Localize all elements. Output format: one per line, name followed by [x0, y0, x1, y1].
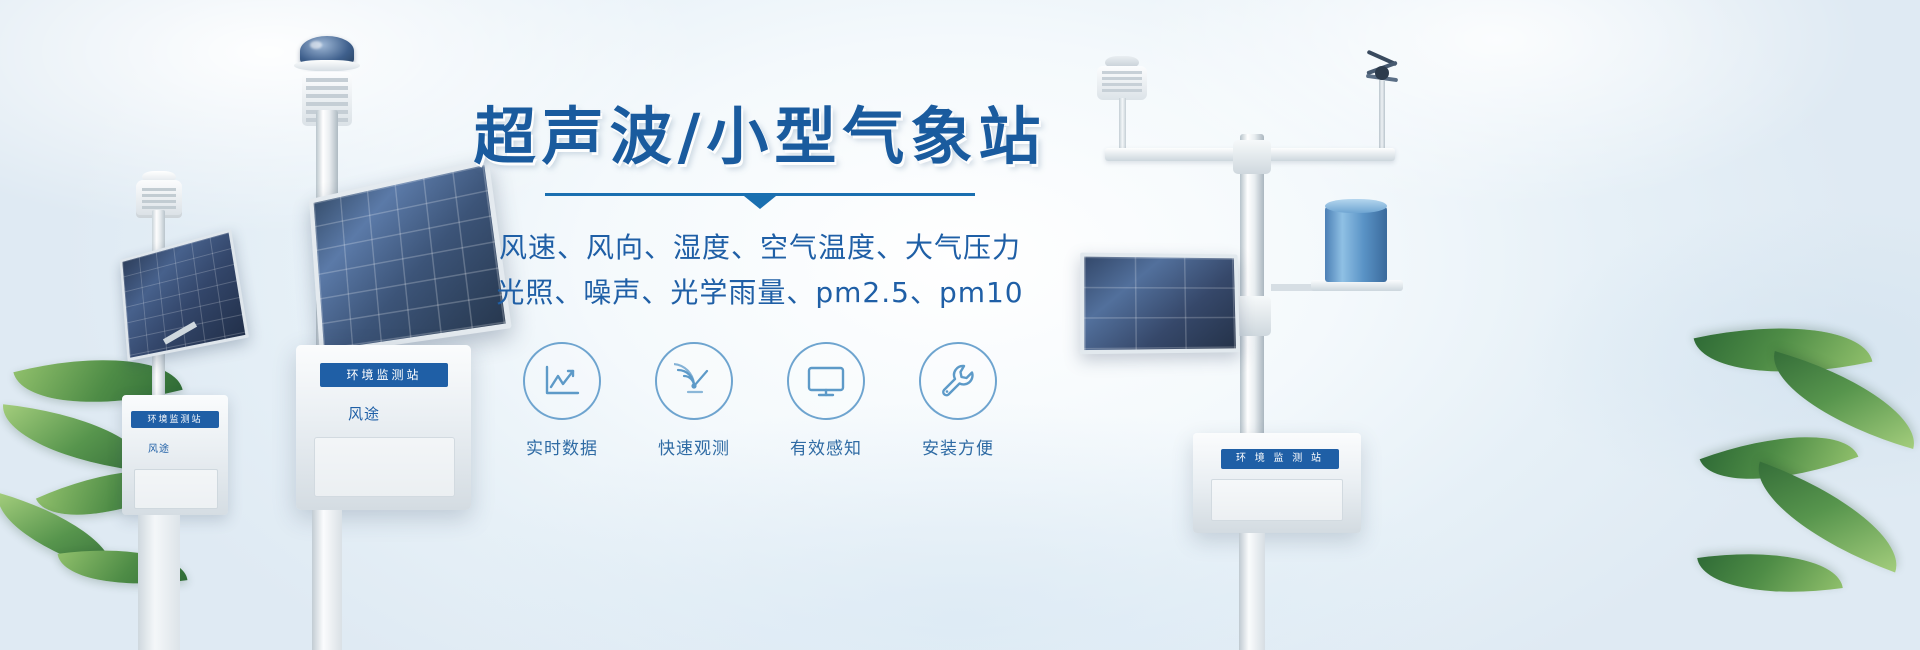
wrench-tool-icon	[919, 342, 997, 420]
solar-panel	[1080, 253, 1240, 355]
feature-item-realtime-data[interactable]: 实时数据	[523, 342, 601, 459]
feature-list: 实时数据 快速观测	[440, 342, 1080, 459]
pole-base	[1239, 533, 1265, 650]
feature-label: 有效感知	[790, 434, 862, 459]
rain-gauge-sensor	[1325, 206, 1387, 282]
page-title: 超声波/小型气象站	[440, 104, 1080, 171]
feature-label: 快速观测	[658, 434, 730, 459]
cabinet-label: 环境监测站	[320, 363, 448, 387]
title-divider	[440, 193, 1080, 219]
control-cabinet: 环 境 监 测 站	[1193, 433, 1361, 533]
brand-logo: 风途	[348, 403, 380, 424]
weather-station-left: 环境监测站 风途	[108, 180, 278, 650]
control-cabinet: 环境监测站 风途	[122, 395, 228, 515]
pole-base	[138, 515, 180, 650]
anemometer-wind-vane-icon	[1365, 52, 1399, 100]
leaf-decoration	[1697, 539, 1843, 608]
sensor-cap-icon	[294, 60, 360, 71]
brand-logo: 风途	[148, 440, 170, 455]
cabinet-label: 环 境 监 测 站	[1221, 449, 1339, 469]
subtitle-line-2: 光照、噪声、光学雨量、pm2.5、pm10	[440, 270, 1080, 315]
banner-content: 超声波/小型气象站 风速、风向、湿度、空气温度、大气压力 光照、噪声、光学雨量、…	[440, 104, 1080, 459]
cabinet-door	[134, 469, 218, 509]
pole-collar	[1233, 140, 1271, 174]
monitor-display-icon	[787, 342, 865, 420]
subtitle-line-1: 风速、风向、湿度、空气温度、大气压力	[440, 225, 1080, 270]
weather-station-right: 环 境 监 测 站	[1075, 48, 1415, 650]
solar-panel	[120, 229, 249, 361]
cabinet-label: 环境监测站	[131, 411, 219, 428]
line-chart-icon	[523, 342, 601, 420]
product-banner: 环境监测站 风途 环境监测站 风途	[0, 0, 1920, 650]
feature-item-easy-installation[interactable]: 安装方便	[919, 342, 997, 459]
pole-base	[312, 510, 342, 650]
radiation-shield-sensor	[1097, 66, 1147, 100]
radar-signal-icon	[655, 342, 733, 420]
feature-item-effective-sensing[interactable]: 有效感知	[787, 342, 865, 459]
feature-label: 实时数据	[526, 434, 598, 459]
cabinet-door	[1211, 479, 1343, 521]
feature-item-fast-observation[interactable]: 快速观测	[655, 342, 733, 459]
feature-label: 安装方便	[922, 434, 994, 459]
sensor-stem	[1119, 98, 1126, 150]
chevron-down-icon	[744, 196, 776, 209]
cabinet-door	[314, 437, 455, 497]
